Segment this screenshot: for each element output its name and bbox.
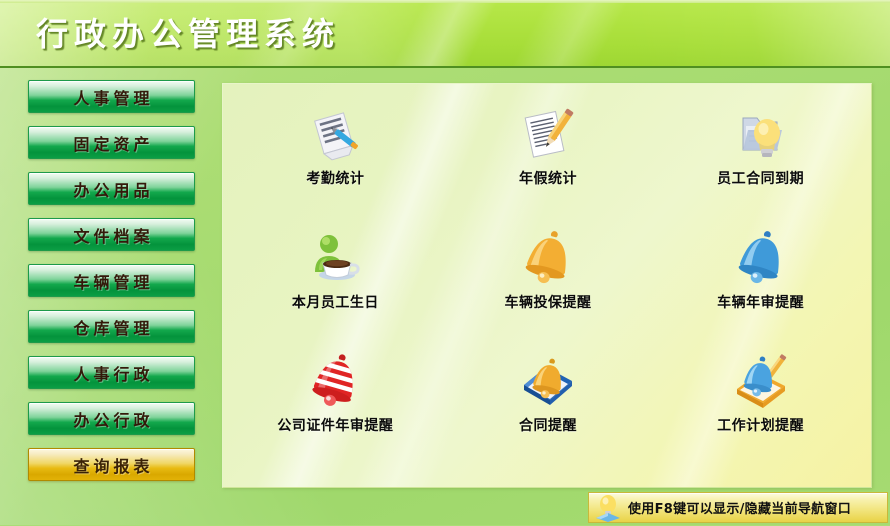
orange-bell-icon [516,230,580,288]
lightbulb-icon [593,494,623,522]
red-striped-bell-icon [303,353,367,411]
sidebar-nav: 人事管理 固定资产 办公用品 文件档案 车辆管理 仓库管理 人事行政 办公行政 … [0,70,215,510]
page-title: 行政办公管理系统 [36,9,340,55]
sidebar-item-cheliang-guanli[interactable]: 车辆管理 [28,264,195,297]
shortcut-contract-reminder[interactable]: 合同提醒 [442,339,655,463]
sidebar-item-label: 人事管理 [69,85,153,109]
sidebar-item-renshi-guanli[interactable]: 人事管理 [28,80,195,113]
sidebar-item-label: 办公行政 [69,407,153,431]
shortcut-label: 本月员工生日 [292,292,379,312]
blue-bell-icon [729,230,793,288]
sidebar-item-label: 仓库管理 [69,315,153,339]
shortcut-vehicle-inspection-reminder[interactable]: 车辆年审提醒 [654,216,867,340]
header-highlight-line [0,0,890,3]
shortcut-work-plan-reminder[interactable]: 工作计划提醒 [654,339,867,463]
shortcut-label: 合同提醒 [519,415,577,435]
sidebar-item-wenjian-dangan[interactable]: 文件档案 [28,218,195,251]
shortcut-label: 年假统计 [519,168,577,188]
sidebar-item-cangku-guanli[interactable]: 仓库管理 [28,310,195,343]
sidebar-item-label: 查询报表 [69,453,153,477]
sidebar-item-label: 车辆管理 [69,269,153,293]
sidebar-item-label: 文件档案 [69,223,153,247]
sidebar-item-bangong-xingzheng[interactable]: 办公行政 [28,402,195,435]
app-header: 行政办公管理系统 [0,0,890,68]
person-coffee-icon [303,230,367,288]
shortcut-label: 考勤统计 [306,168,364,188]
sidebar-item-label: 人事行政 [69,361,153,385]
shortcut-icon-grid: 考勤统计 [223,84,872,488]
shortcut-attendance-stats[interactable]: 考勤统计 [229,92,442,216]
application-window: 行政办公管理系统 人事管理 固定资产 办公用品 文件档案 车辆管理 仓库管理 人… [0,0,890,525]
folder-lightbulb-icon [729,106,793,164]
shortcut-label: 公司证件年审提醒 [277,415,393,435]
shortcut-vehicle-insurance-reminder[interactable]: 车辆投保提醒 [442,216,655,340]
sidebar-item-label: 办公用品 [69,177,153,201]
shortcut-label: 员工合同到期 [717,168,804,188]
shortcut-company-license-reminder[interactable]: 公司证件年审提醒 [229,339,442,463]
sidebar-item-label: 固定资产 [69,131,153,155]
sidebar-item-guding-zichan[interactable]: 固定资产 [28,126,195,159]
form-with-pen-icon [303,106,367,164]
shortcut-annual-leave-stats[interactable]: 年假统计 [442,92,655,216]
status-bar: 使用F8键可以显示/隐藏当前导航窗口 [588,492,888,523]
shortcut-employee-birthday[interactable]: 本月员工生日 [229,216,442,340]
sidebar-item-bangong-yongpin[interactable]: 办公用品 [28,172,195,205]
main-content-panel: 考勤统计 [222,83,872,488]
sidebar-item-chaxun-baobiao[interactable]: 查询报表 [28,448,195,481]
sidebar-item-renshi-xingzheng[interactable]: 人事行政 [28,356,195,389]
blue-book-bell-icon [516,353,580,411]
book-bell-pencil-icon [729,353,793,411]
status-message: 使用F8键可以显示/隐藏当前导航窗口 [628,498,851,517]
document-with-pencil-icon [516,106,580,164]
shortcut-label: 车辆年审提醒 [717,292,804,312]
shortcut-contract-expiry[interactable]: 员工合同到期 [654,92,867,216]
shortcut-label: 工作计划提醒 [717,415,804,435]
shortcut-label: 车辆投保提醒 [504,292,591,312]
